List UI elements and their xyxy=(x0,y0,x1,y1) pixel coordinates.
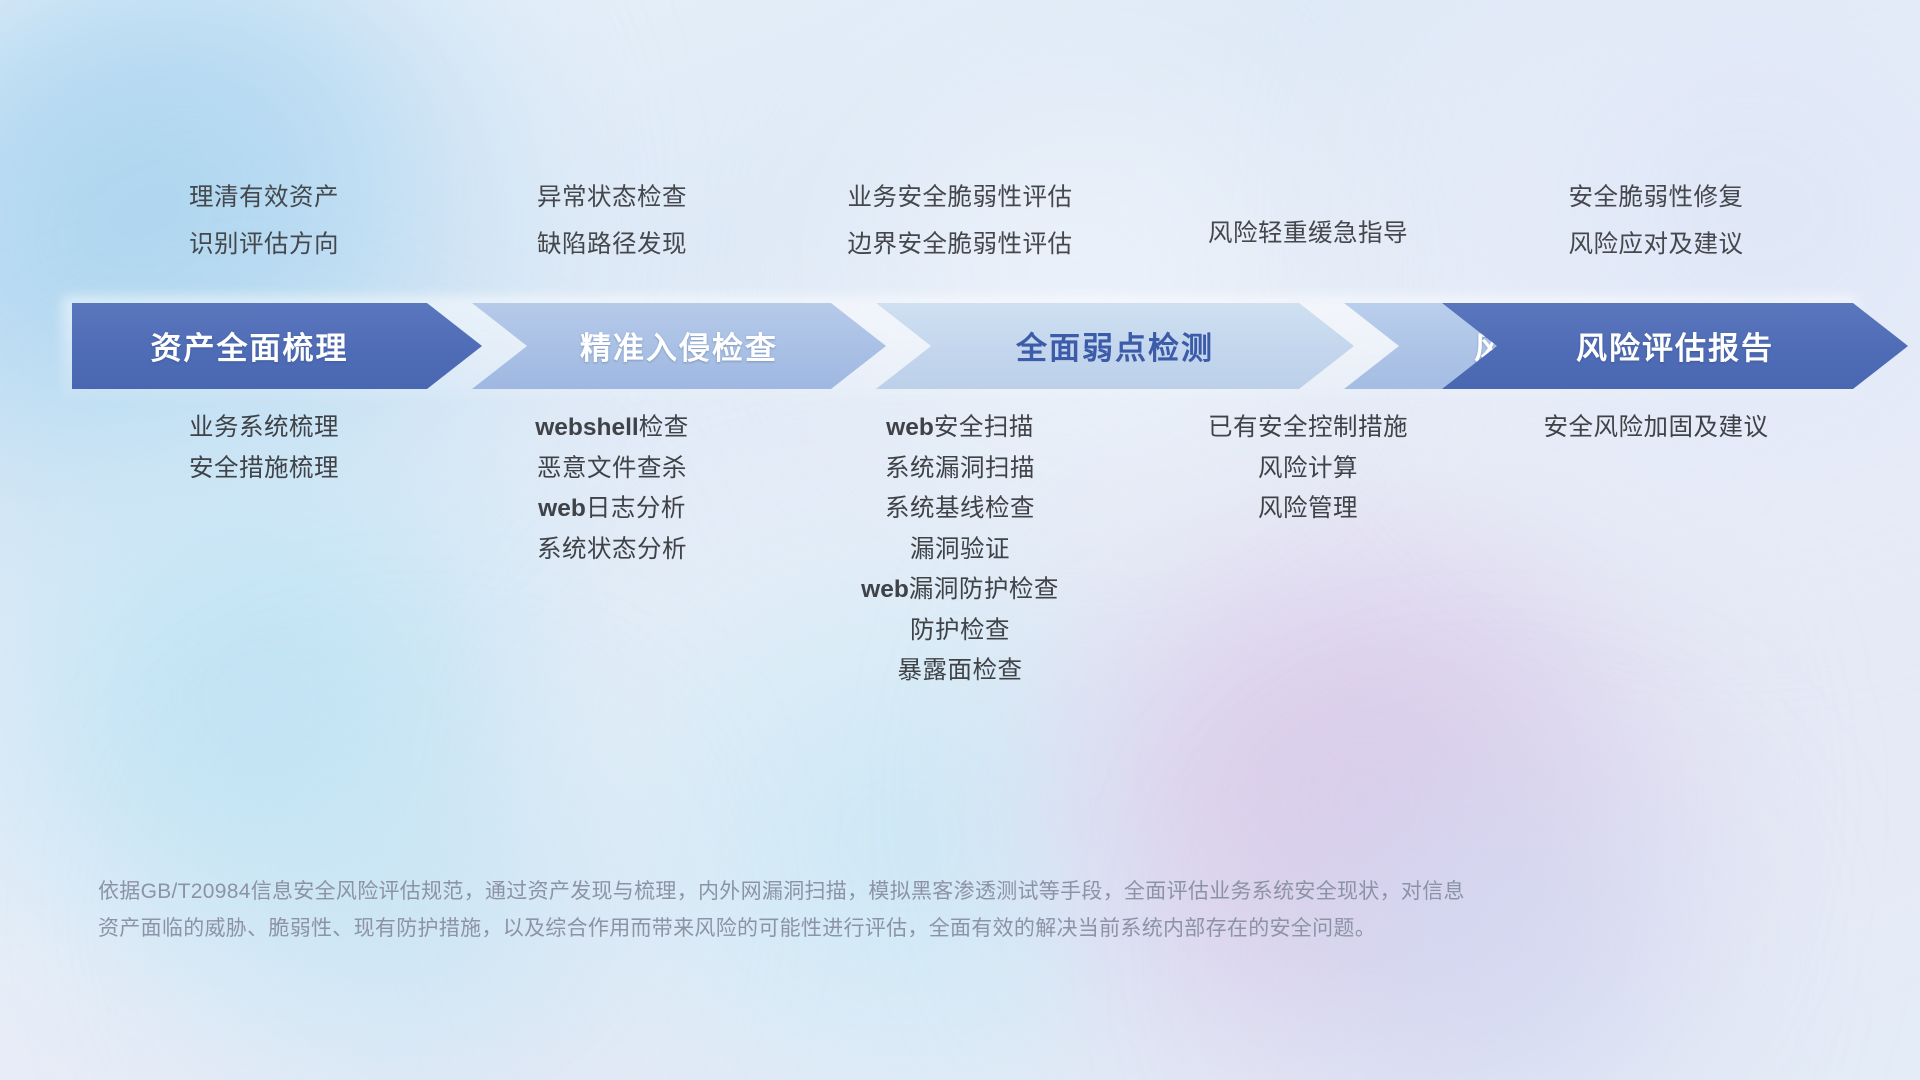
list-item: 系统漏洞扫描 xyxy=(885,457,1035,482)
list-item: web日志分析 xyxy=(538,497,686,522)
footer-description: 依据GB/T20984信息安全风险评估规范，通过资产发现与梳理，内外网漏洞扫描，… xyxy=(98,873,1628,947)
footer-line: 资产面临的威胁、脆弱性、现有防护措施，以及综合作用而带来风险的可能性进行评估，全… xyxy=(98,910,1628,947)
top-captions-risk-report: 安全脆弱性修复 风险应对及建议 xyxy=(1482,186,1830,279)
top-caption: 理清有效资产 xyxy=(189,186,339,211)
stage-title: 全面弱点检测 xyxy=(1016,323,1214,368)
top-caption: 业务安全脆弱性评估 xyxy=(848,186,1073,211)
list-item: 防护检查 xyxy=(910,619,1010,644)
footer-line: 依据GB/T20984信息安全风险评估规范，通过资产发现与梳理，内外网漏洞扫描，… xyxy=(98,873,1628,910)
top-captions-intrusion-check: 异常状态检查 缺陷路径发现 xyxy=(438,186,786,279)
list-item: 暴露面检查 xyxy=(898,659,1023,684)
list-item: web安全扫描 xyxy=(886,416,1034,441)
list-item: 漏洞验证 xyxy=(910,538,1010,563)
stage-title: 风险评估报告 xyxy=(1576,323,1774,368)
stage-title: 资产全面梳理 xyxy=(151,323,349,368)
top-caption: 安全脆弱性修复 xyxy=(1569,186,1744,211)
list-item: web漏洞防护检查 xyxy=(861,578,1059,603)
top-caption: 边界安全脆弱性评估 xyxy=(848,233,1073,258)
process-diagram: 理清有效资产 识别评估方向 异常状态检查 缺陷路径发现 业务安全脆弱性评估 边界… xyxy=(0,0,1920,1080)
list-item: 风险计算 xyxy=(1258,457,1358,482)
stage-chevron-weakness-detection[interactable]: 全面弱点检测 xyxy=(876,303,1354,389)
list-item: 风险管理 xyxy=(1258,497,1358,522)
top-caption: 风险应对及建议 xyxy=(1569,233,1744,258)
top-captions-asset-inventory: 理清有效资产 识别评估方向 xyxy=(90,186,438,279)
stage-chevron-intrusion-check[interactable]: 精准入侵检查 xyxy=(472,303,886,389)
list-item: 恶意文件查杀 xyxy=(537,457,687,482)
stage-chevron-risk-report[interactable]: 风险评估报告 xyxy=(1442,303,1908,389)
stage-chevron-asset-inventory[interactable]: 资产全面梳理 xyxy=(72,303,482,389)
items-weakness-detection: web安全扫描 系统漏洞扫描 系统基线检查 漏洞验证 web漏洞防护检查 防护检… xyxy=(786,416,1134,700)
items-risk-analysis: 已有安全控制措施 风险计算 风险管理 xyxy=(1134,416,1482,700)
list-item: 业务系统梳理 xyxy=(189,416,339,441)
list-item: 已有安全控制措施 xyxy=(1208,416,1408,441)
list-item: webshell检查 xyxy=(535,416,688,441)
list-item: 系统基线检查 xyxy=(885,497,1035,522)
stage-banner: 资产全面梳理 精准入侵检查 全面弱点检测 风险分析 风险评估报告 xyxy=(72,303,1848,389)
top-captions-weakness-detection: 业务安全脆弱性评估 边界安全脆弱性评估 xyxy=(786,186,1134,279)
top-captions-risk-analysis: 风险轻重缓急指导 xyxy=(1134,186,1482,279)
items-risk-report: 安全风险加固及建议 xyxy=(1482,416,1830,700)
bottom-item-row: 业务系统梳理 安全措施梳理 webshell检查 恶意文件查杀 web日志分析 … xyxy=(90,416,1830,700)
list-item: 安全措施梳理 xyxy=(189,457,339,482)
list-item: 安全风险加固及建议 xyxy=(1544,416,1769,441)
list-item: 系统状态分析 xyxy=(537,538,687,563)
items-intrusion-check: webshell检查 恶意文件查杀 web日志分析 系统状态分析 xyxy=(438,416,786,700)
items-asset-inventory: 业务系统梳理 安全措施梳理 xyxy=(90,416,438,700)
top-caption: 风险轻重缓急指导 xyxy=(1208,222,1408,247)
top-caption: 识别评估方向 xyxy=(189,233,339,258)
top-caption-row: 理清有效资产 识别评估方向 异常状态检查 缺陷路径发现 业务安全脆弱性评估 边界… xyxy=(90,186,1830,279)
top-caption: 异常状态检查 xyxy=(537,186,687,211)
top-caption: 缺陷路径发现 xyxy=(537,233,687,258)
stage-title: 精准入侵检查 xyxy=(580,323,778,368)
